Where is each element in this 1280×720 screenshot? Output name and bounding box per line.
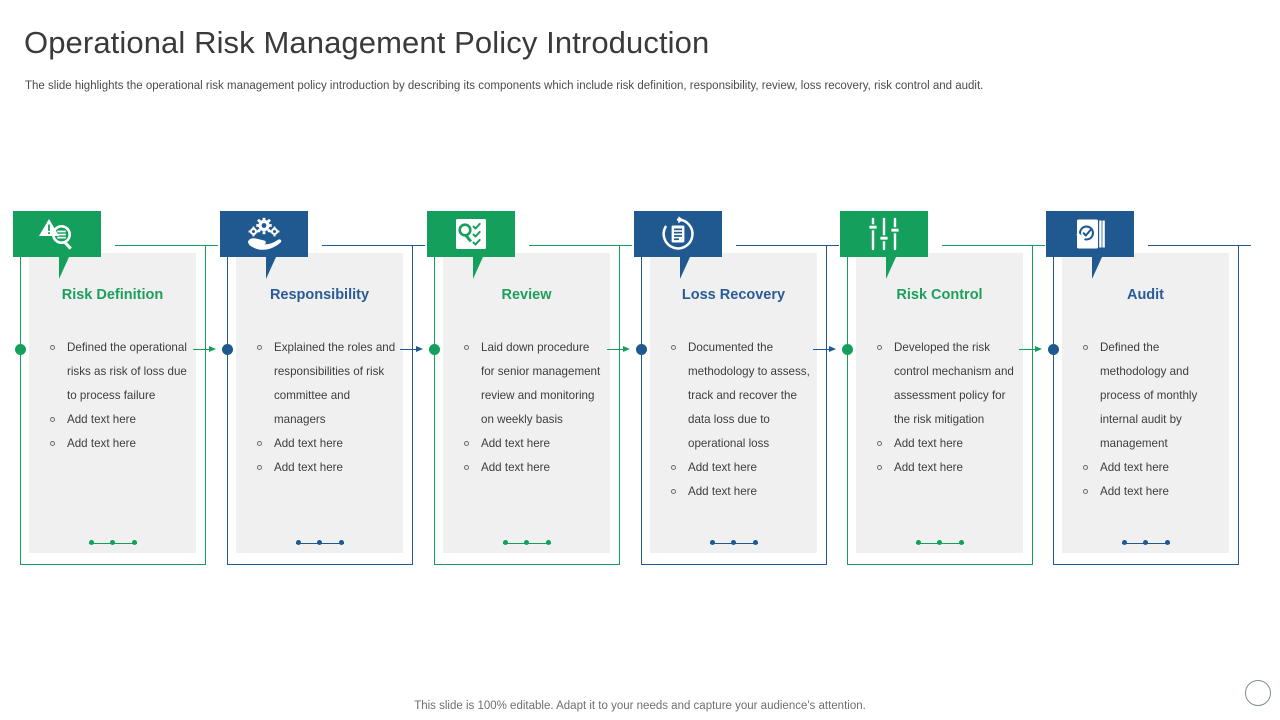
bullet-item: Add text here	[256, 432, 396, 456]
bullet-item: Add text here	[670, 480, 810, 504]
divider-dot	[503, 540, 508, 545]
corner-circle-decoration	[1245, 680, 1271, 706]
footer-note: This slide is 100% editable. Adapt it to…	[0, 700, 1280, 712]
card-divider-dots	[1062, 538, 1229, 548]
divider-dot	[710, 540, 715, 545]
bullet-item: Documented the methodology to assess, tr…	[670, 336, 810, 456]
card-bullet-list: Developed the risk control mechanism and…	[876, 336, 1016, 480]
process-card-loss-recovery[interactable]: Loss Recovery Documented the methodology…	[632, 205, 838, 565]
connector-arrow-review	[400, 346, 424, 353]
card-node-dot	[636, 344, 647, 355]
card-node-dot	[842, 344, 853, 355]
card-bullet-list: Laid down procedure for senior managemen…	[463, 336, 603, 480]
card-title: Loss Recovery	[650, 287, 817, 303]
card-frame-top-edge	[1148, 245, 1251, 246]
card-title: Risk Control	[856, 287, 1023, 303]
divider-dot	[524, 540, 529, 545]
sliders-icon	[840, 211, 928, 257]
divider-dot	[89, 540, 94, 545]
card-node-dot	[222, 344, 233, 355]
bullet-item: Add text here	[1082, 480, 1222, 504]
divider-dot	[753, 540, 758, 545]
page-title: Operational Risk Management Policy Intro…	[24, 22, 709, 64]
divider-dot	[959, 540, 964, 545]
connector-arrowhead	[209, 346, 216, 352]
divider-dot	[916, 540, 921, 545]
book-check-icon	[1046, 211, 1134, 257]
card-title: Audit	[1062, 287, 1229, 303]
connector-arrowhead	[829, 346, 836, 352]
divider-dot	[1165, 540, 1170, 545]
card-title: Responsibility	[236, 287, 403, 303]
bullet-item: Developed the risk control mechanism and…	[876, 336, 1016, 432]
card-divider-dots	[236, 538, 403, 548]
card-frame-top-edge	[736, 245, 839, 246]
card-frame-top-edge	[942, 245, 1045, 246]
checklist-magnifier-icon	[427, 211, 515, 257]
card-divider-dots	[443, 538, 610, 548]
connector-arrow-audit	[1019, 346, 1043, 353]
bullet-item: Add text here	[49, 432, 189, 456]
bullet-item: Add text here	[1082, 456, 1222, 480]
bullet-item: Add text here	[876, 456, 1016, 480]
card-bullet-list: Documented the methodology to assess, tr…	[670, 336, 810, 504]
connector-arrow-risk-control	[813, 346, 837, 353]
divider-dot	[546, 540, 551, 545]
bullet-item: Add text here	[49, 408, 189, 432]
divider-dot	[339, 540, 344, 545]
card-node-dot	[15, 344, 26, 355]
divider-dot	[110, 540, 115, 545]
connector-arrow-responsibility	[193, 346, 217, 353]
card-divider-dots	[29, 538, 196, 548]
card-title: Risk Definition	[29, 287, 196, 303]
card-bullet-list: Explained the roles and responsibilities…	[256, 336, 396, 480]
card-node-dot	[1048, 344, 1059, 355]
card-frame-top-edge	[115, 245, 218, 246]
divider-dot	[937, 540, 942, 545]
hand-gears-icon	[220, 211, 308, 257]
warning-magnifier-icon	[13, 211, 101, 257]
card-icon-tab-tail	[59, 257, 69, 279]
process-card-audit[interactable]: Audit Defined the methodology and proces…	[1044, 205, 1250, 565]
divider-dot	[132, 540, 137, 545]
connector-arrow-loss-recovery	[607, 346, 631, 353]
process-card-risk-definition[interactable]: Risk Definition Defined the operational …	[11, 205, 217, 565]
connector-arrowhead	[1035, 346, 1042, 352]
card-icon-tab-tail	[473, 257, 483, 279]
document-refresh-icon	[634, 211, 722, 257]
card-bullet-list: Defined the methodology and process of m…	[1082, 336, 1222, 504]
bullet-item: Defined the operational risks as risk of…	[49, 336, 189, 408]
process-card-risk-control[interactable]: Risk Control Developed the risk control …	[838, 205, 1044, 565]
card-divider-dots	[650, 538, 817, 548]
card-icon-tab-tail	[1092, 257, 1102, 279]
card-icon-tab-tail	[886, 257, 896, 279]
card-divider-dots	[856, 538, 1023, 548]
bullet-item: Laid down procedure for senior managemen…	[463, 336, 603, 432]
page-subtitle: The slide highlights the operational ris…	[25, 78, 1255, 94]
bullet-item: Defined the methodology and process of m…	[1082, 336, 1222, 456]
divider-dot	[317, 540, 322, 545]
bullet-item: Add text here	[463, 456, 603, 480]
card-frame-top-edge	[322, 245, 425, 246]
bullet-item: Add text here	[670, 456, 810, 480]
card-frame-top-edge	[529, 245, 632, 246]
connector-arrowhead	[416, 346, 423, 352]
bullet-item: Add text here	[256, 456, 396, 480]
bullet-item: Add text here	[463, 432, 603, 456]
process-card-responsibility[interactable]: Responsibility Explained the roles and r…	[218, 205, 424, 565]
process-card-strip: Risk Definition Defined the operational …	[0, 205, 1280, 570]
divider-dot	[296, 540, 301, 545]
bullet-item: Explained the roles and responsibilities…	[256, 336, 396, 432]
divider-dot	[1122, 540, 1127, 545]
connector-arrowhead	[623, 346, 630, 352]
card-icon-tab-tail	[680, 257, 690, 279]
card-node-dot	[429, 344, 440, 355]
card-bullet-list: Defined the operational risks as risk of…	[49, 336, 189, 456]
divider-dot	[1143, 540, 1148, 545]
process-card-review[interactable]: Review Laid down procedure for senior ma…	[425, 205, 631, 565]
slide-canvas: Operational Risk Management Policy Intro…	[0, 0, 1280, 720]
bullet-item: Add text here	[876, 432, 1016, 456]
divider-dot	[731, 540, 736, 545]
card-title: Review	[443, 287, 610, 303]
card-icon-tab-tail	[266, 257, 276, 279]
